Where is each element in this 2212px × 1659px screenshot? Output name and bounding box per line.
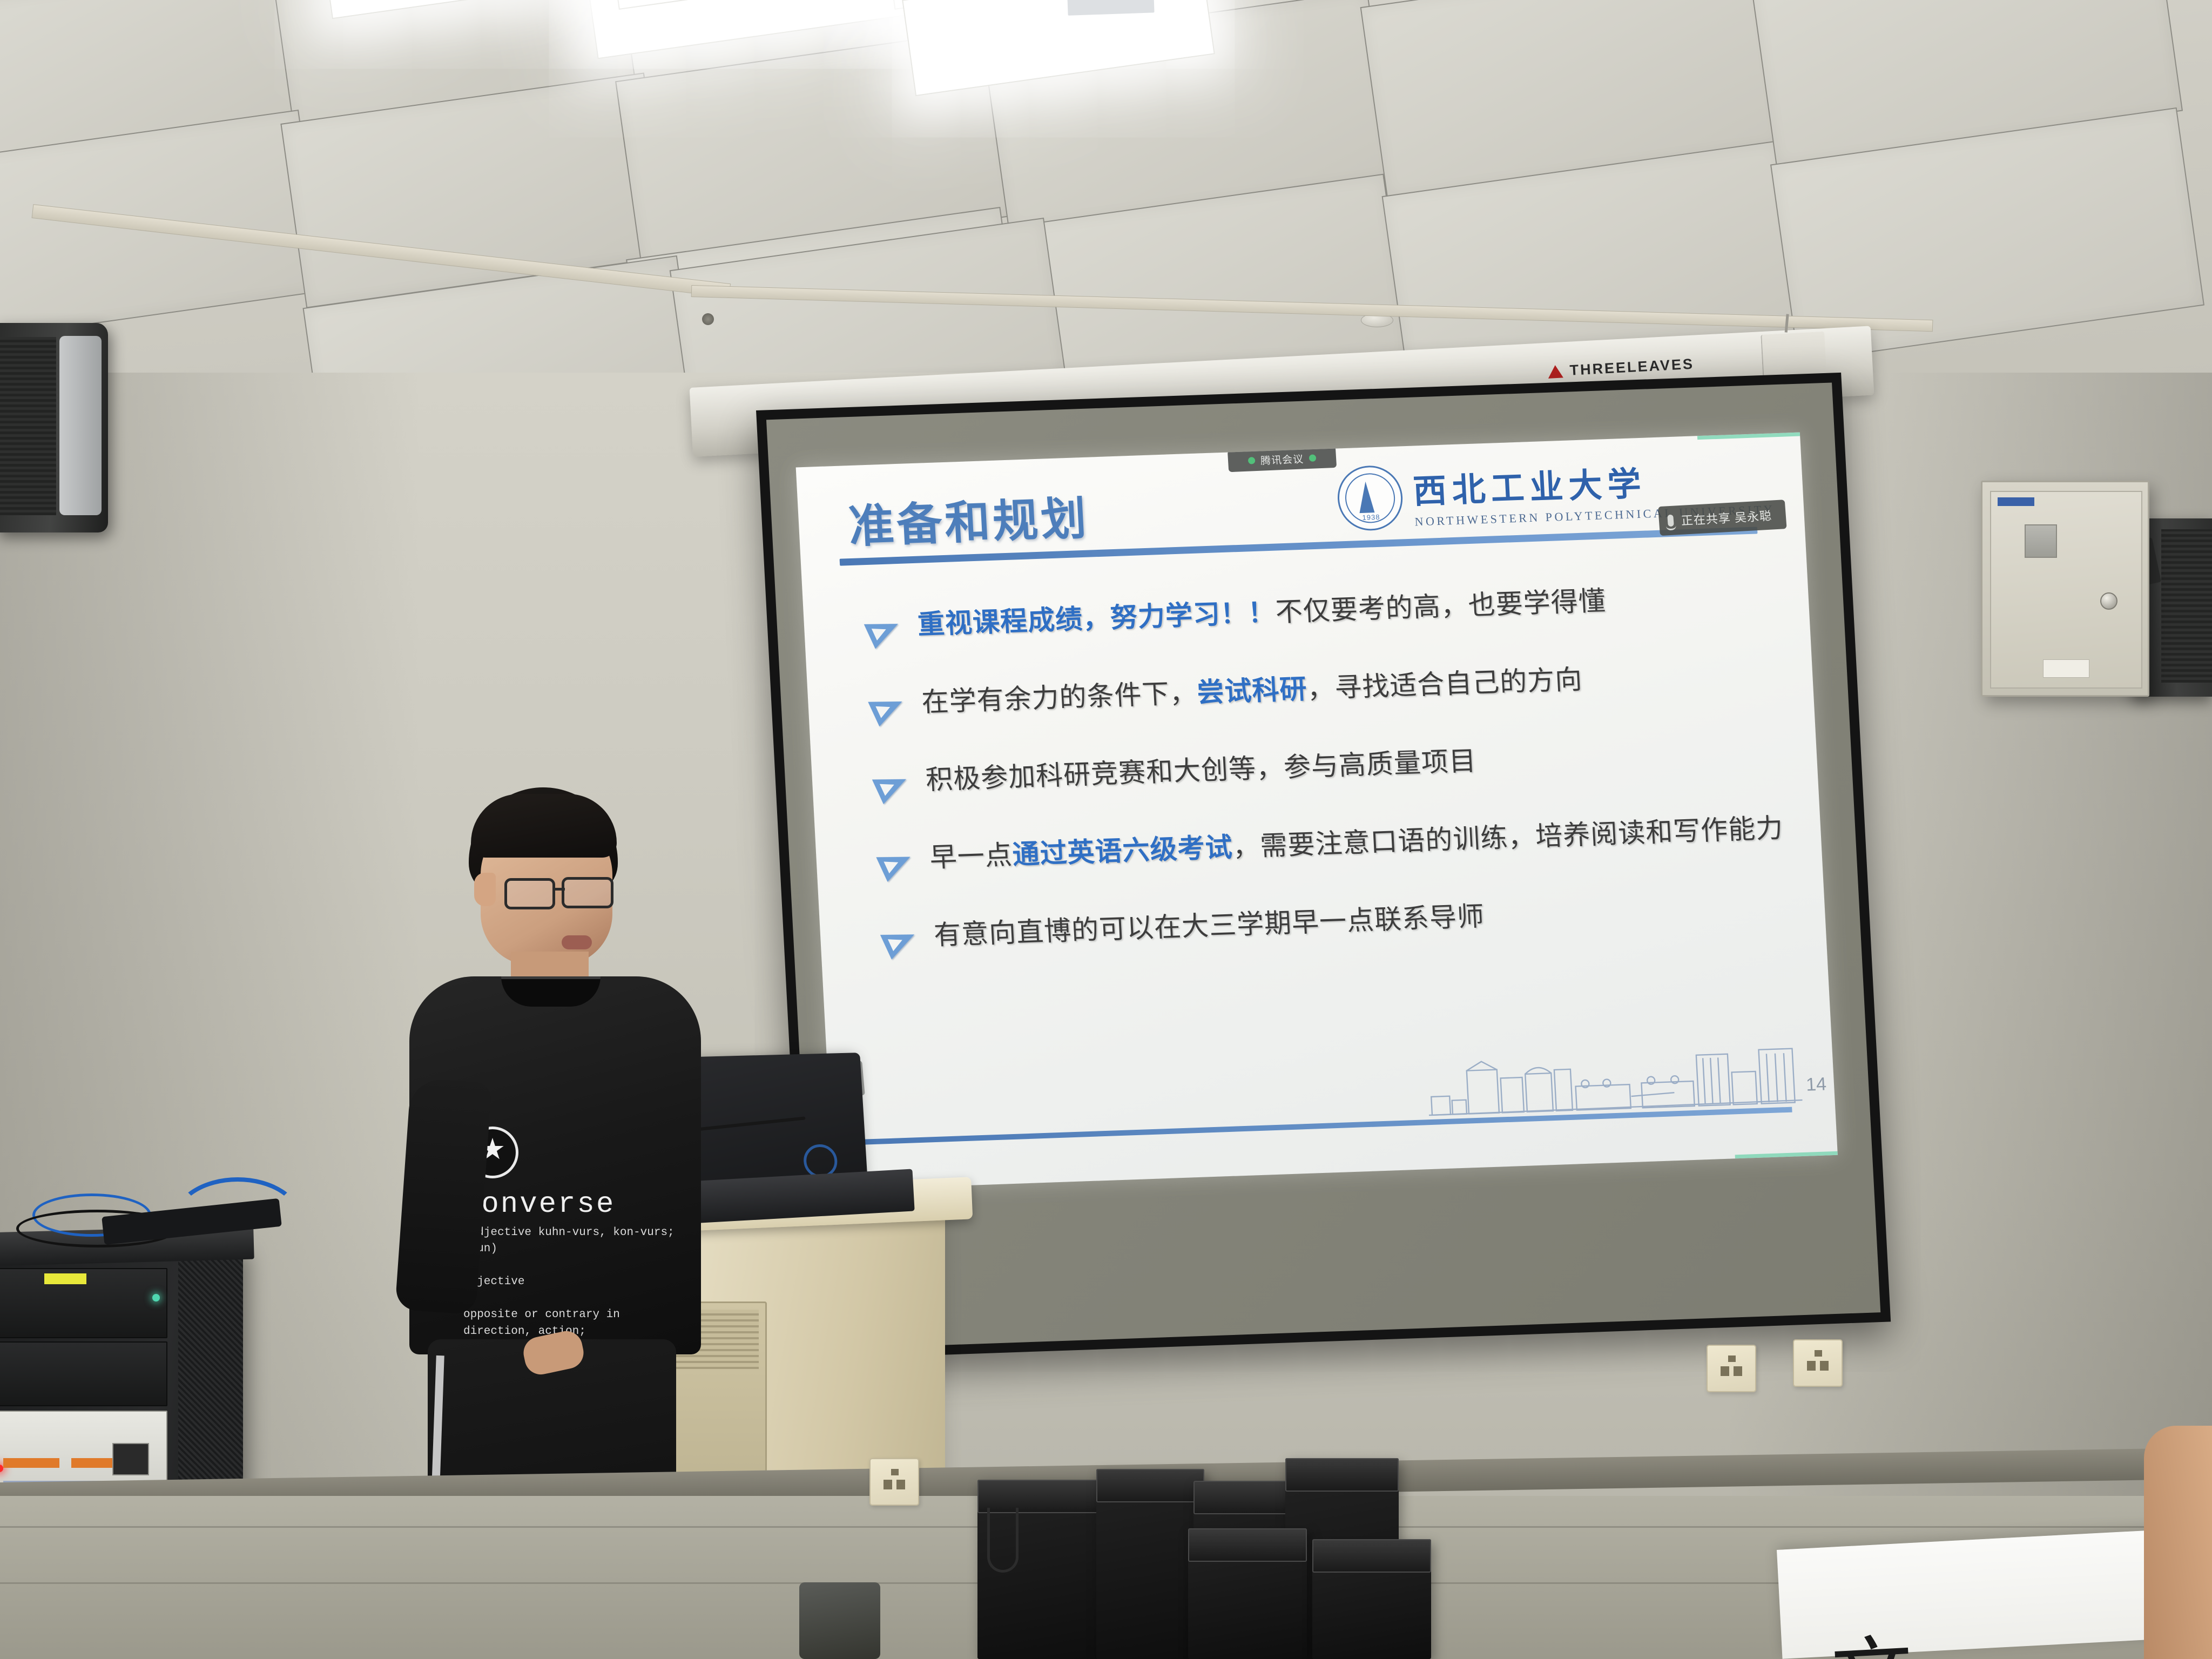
bullet-highlight: 通过英语六级考试 (1011, 832, 1233, 870)
controller-display (112, 1443, 149, 1475)
presenter-ear (474, 873, 496, 906)
speaker-grille (2161, 529, 2212, 683)
seal-year: 1938 (1340, 512, 1402, 522)
eyeglasses-icon (504, 878, 555, 909)
presenter-hair-front (471, 794, 617, 858)
meeting-app-label: 腾讯会议 (1260, 451, 1304, 467)
rack-warning-label (44, 1273, 86, 1284)
wall-power-outlet[interactable] (1793, 1339, 1843, 1387)
audience-member-edge (2144, 1426, 2212, 1659)
slide-bullet-list: 重视课程成绩，努力学习！！不仅要考的高，也要学得懂 在学有余力的条件下，尝试科研… (867, 579, 1796, 999)
list-item: 在学有余力的条件下，尝试科研，寻找适合自己的方向 (871, 657, 1781, 725)
bag-opening (1188, 1528, 1307, 1562)
tshirt-brand-label: Converse (462, 1188, 615, 1221)
bullet-pre: 在学有余力的条件下， (921, 678, 1198, 718)
slide-edge-accent (1735, 1151, 1838, 1159)
eyeglasses-icon (562, 877, 613, 908)
lecture-hall-scene: THREELEAVES 准备和规划 1938 西北工业大学 NORT (0, 0, 2212, 1659)
wall-power-outlet[interactable] (1707, 1345, 1756, 1392)
bullet-highlight: 重视课程成绩，努力学习！！ (917, 597, 1277, 640)
paper-plane-icon (872, 691, 907, 725)
presenter-mouth (562, 935, 592, 949)
bullet-text: 有意向直博的可以在大三学期早一点联系导师 (933, 900, 1486, 952)
meeting-status-dot-icon (1309, 454, 1317, 462)
bullet-rest: 不仅要考的高，也要学得懂 (1274, 585, 1607, 627)
rack-unit-amplifier[interactable] (0, 1268, 167, 1338)
screen-brand: THREELEAVES (1548, 356, 1695, 380)
eyeglasses-bridge (554, 888, 565, 891)
ceiling (0, 0, 2212, 410)
cabinet-lock-icon[interactable] (2100, 592, 2117, 610)
wall-speaker-left (0, 323, 108, 532)
bullet-pre: 早一点 (929, 840, 1013, 873)
slide-title: 准备和规划 (847, 482, 1090, 556)
three-leaf-logo-icon (1548, 365, 1563, 378)
slide-page-number: 14 (1805, 1074, 1827, 1095)
wall-power-outlet[interactable] (869, 1458, 919, 1506)
banner-text: 文 (1829, 1607, 1926, 1659)
bag-handle (987, 1508, 1019, 1573)
list-item[interactable] (1188, 1528, 1307, 1659)
list-item: 重视课程成绩，努力学习！！不仅要考的高，也要学得懂 (867, 579, 1777, 648)
power-led-icon (152, 1294, 160, 1301)
cabinet-label-tag (1998, 497, 2034, 506)
bag-opening (1285, 1458, 1399, 1492)
meeting-share-label: 正在共享 吴永聪 (1681, 507, 1772, 529)
list-item: 早一点通过英语六级考试，需要注意口语的训练，培养阅读和写作能力 (879, 812, 1789, 881)
list-item[interactable] (1312, 1539, 1431, 1659)
screen-brand-label: THREELEAVES (1569, 356, 1695, 379)
electrical-cabinet[interactable] (1981, 481, 2149, 697)
paper-plane-icon (880, 846, 915, 880)
bullet-text: 重视课程成绩，努力学习！！不仅要考的高，也要学得懂 (917, 585, 1607, 640)
bullet-rest: 积极参加科研竞赛和大创等，参与高质量项目 (925, 746, 1477, 795)
bullet-rest: 有意向直博的可以在大三学期早一点联系导师 (933, 901, 1485, 950)
cabinet-door[interactable] (1990, 491, 2142, 689)
microphone-icon (1667, 515, 1674, 527)
meeting-status-dot-icon (1248, 457, 1256, 464)
bullet-highlight: 尝试科研 (1196, 674, 1308, 708)
bullet-text: 在学有余力的条件下，尝试科研，寻找适合自己的方向 (921, 664, 1583, 719)
floor-equipment-box (799, 1582, 880, 1659)
jet-icon (1358, 481, 1375, 513)
bullet-text: 积极参加科研竞赛和大创等，参与高质量项目 (925, 745, 1478, 797)
slide-edge-accent (1697, 433, 1800, 440)
paper-plane-icon (875, 768, 911, 802)
speaker-grille (0, 337, 56, 515)
cabinet-sticker (2043, 659, 2089, 678)
bag-opening (1312, 1539, 1431, 1573)
presentation-slide[interactable]: 准备和规划 1938 西北工业大学 NORTHWESTERN POLYTECHN… (796, 433, 1838, 1190)
bullet-text: 早一点通过英语六级考试，需要注意口语的训练，培养阅读和写作能力 (929, 812, 1784, 874)
list-item[interactable] (977, 1480, 1107, 1659)
campus-skyline-icon (1424, 1036, 1805, 1120)
tshirt-collar (501, 976, 601, 1007)
meeting-toolbar[interactable]: 腾讯会议 (1228, 446, 1337, 472)
paper-plane-icon (884, 923, 919, 958)
list-item: 积极参加科研竞赛和大创等，参与高质量项目 (875, 734, 1785, 803)
bullet-rest: ，需要注意口语的训练，培养阅读和写作能力 (1232, 813, 1784, 862)
bullet-rest: ，寻找适合自己的方向 (1306, 664, 1583, 704)
sprinkler-icon (702, 313, 714, 325)
paper-plane-icon (867, 613, 902, 648)
university-seal-icon: 1938 (1336, 464, 1404, 531)
speaker-driver (59, 336, 102, 515)
list-item: 有意向直博的可以在大三学期早一点联系导师 (884, 889, 1793, 958)
rack-unit-switcher[interactable] (0, 1341, 167, 1406)
cabinet-window (2025, 524, 2057, 558)
presenter-arm (395, 1077, 492, 1314)
controller-button[interactable] (3, 1458, 59, 1468)
slide-footer-rule (864, 1107, 1792, 1145)
bag-opening (1096, 1469, 1204, 1502)
